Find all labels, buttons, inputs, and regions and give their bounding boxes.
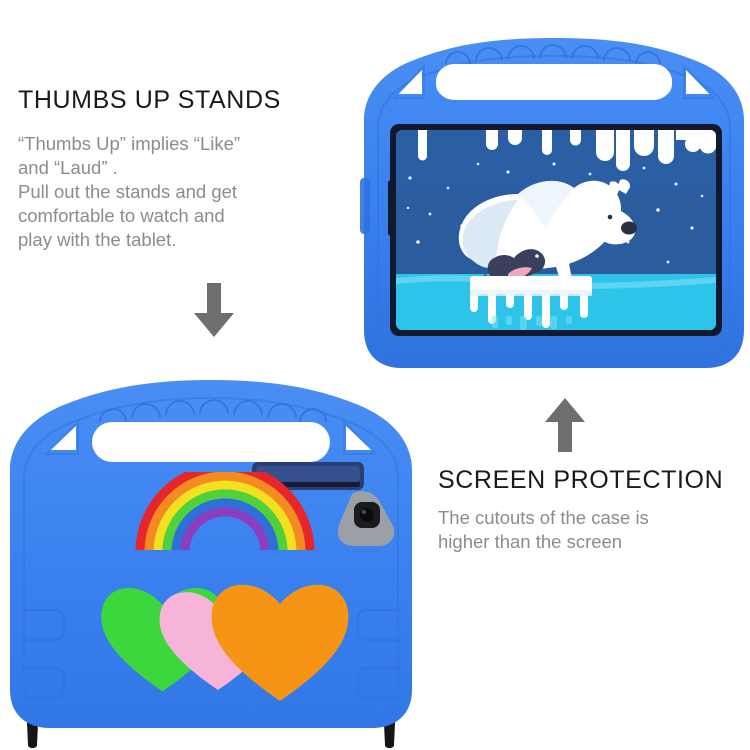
- arrow-up-icon: [541, 398, 589, 454]
- carry-handle: [436, 64, 672, 100]
- arrow-down-icon: [190, 283, 238, 339]
- carry-handle-back: [92, 422, 330, 462]
- thumbs-up-body-line: “Thumbs Up” implies “Like”: [18, 132, 368, 156]
- tablet-screen: [396, 130, 717, 330]
- thumbs-up-body-line: and “Laud” .: [18, 156, 368, 180]
- screen-protection-body-line: The cutouts of the case is: [438, 506, 738, 530]
- thumbs-up-heading: THUMBS UP STANDS: [18, 86, 281, 115]
- case-back-view: [0, 372, 422, 750]
- screen-protection-body-line: higher than the screen: [438, 530, 738, 554]
- screen-protection-body: The cutouts of the case is higher than t…: [438, 506, 738, 554]
- case-front-view: [358, 28, 750, 390]
- product-infographic: THUMBS UP STANDS “Thumbs Up” implies “Li…: [0, 0, 750, 750]
- bear-nose: [621, 222, 637, 235]
- bear-eye: [608, 215, 613, 220]
- thumbs-up-body-line: Pull out the stands and get: [18, 180, 368, 204]
- side-port-cutout: [360, 178, 370, 234]
- screen-protection-heading: SCREEN PROTECTION: [438, 466, 723, 495]
- thumbs-up-body: “Thumbs Up” implies “Like” and “Laud” . …: [18, 132, 368, 252]
- thumbs-up-body-line: comfortable to watch and: [18, 204, 368, 228]
- thumbs-up-body-line: play with the tablet.: [18, 228, 368, 252]
